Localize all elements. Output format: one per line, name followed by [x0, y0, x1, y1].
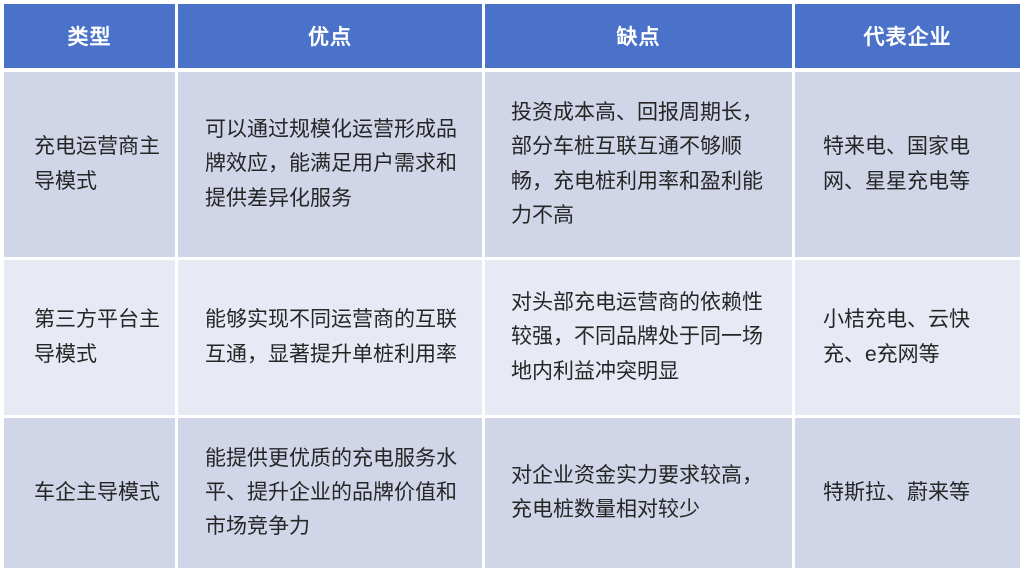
cell-pros: 能够实现不同运营商的互联互通，显著提升单桩利用率	[178, 260, 485, 418]
cell-cons: 投资成本高、回报周期长，部分车桩互联互通不够顺畅，充电桩利用率和盈利能力不高	[485, 72, 795, 260]
comparison-table-container: 类型 优点 缺点 代表企业 充电运营商主导模式 可以通过规模化运营形成品牌效应，…	[4, 4, 1020, 490]
cell-type: 充电运营商主导模式	[4, 72, 178, 260]
table-row: 车企主导模式 能提供更优质的充电服务水平、提升企业的品牌价值和市场竞争力 对企业…	[4, 418, 1020, 568]
column-header-firms: 代表企业	[795, 4, 1020, 68]
cell-pros: 能提供更优质的充电服务水平、提升企业的品牌价值和市场竞争力	[178, 418, 485, 568]
table-header-row: 类型 优点 缺点 代表企业	[4, 4, 1020, 68]
table-header: 类型 优点 缺点 代表企业	[4, 4, 1020, 68]
column-header-cons: 缺点	[485, 4, 795, 68]
charging-mode-comparison-table: 类型 优点 缺点 代表企业 充电运营商主导模式 可以通过规模化运营形成品牌效应，…	[4, 4, 1020, 568]
cell-type: 第三方平台主导模式	[4, 260, 178, 418]
cell-pros: 可以通过规模化运营形成品牌效应，能满足用户需求和提供差异化服务	[178, 72, 485, 260]
column-header-pros: 优点	[178, 4, 485, 68]
cell-firms: 特斯拉、蔚来等	[795, 418, 1020, 568]
column-header-type: 类型	[4, 4, 178, 68]
table-body: 充电运营商主导模式 可以通过规模化运营形成品牌效应，能满足用户需求和提供差异化服…	[4, 68, 1020, 568]
cell-cons: 对头部充电运营商的依赖性较强，不同品牌处于同一场地内利益冲突明显	[485, 260, 795, 418]
cell-type: 车企主导模式	[4, 418, 178, 568]
cell-firms: 小桔充电、云快充、e充网等	[795, 260, 1020, 418]
cell-firms: 特来电、国家电网、星星充电等	[795, 72, 1020, 260]
table-row: 充电运营商主导模式 可以通过规模化运营形成品牌效应，能满足用户需求和提供差异化服…	[4, 72, 1020, 260]
table-row: 第三方平台主导模式 能够实现不同运营商的互联互通，显著提升单桩利用率 对头部充电…	[4, 260, 1020, 418]
cell-cons: 对企业资金实力要求较高，充电桩数量相对较少	[485, 418, 795, 568]
